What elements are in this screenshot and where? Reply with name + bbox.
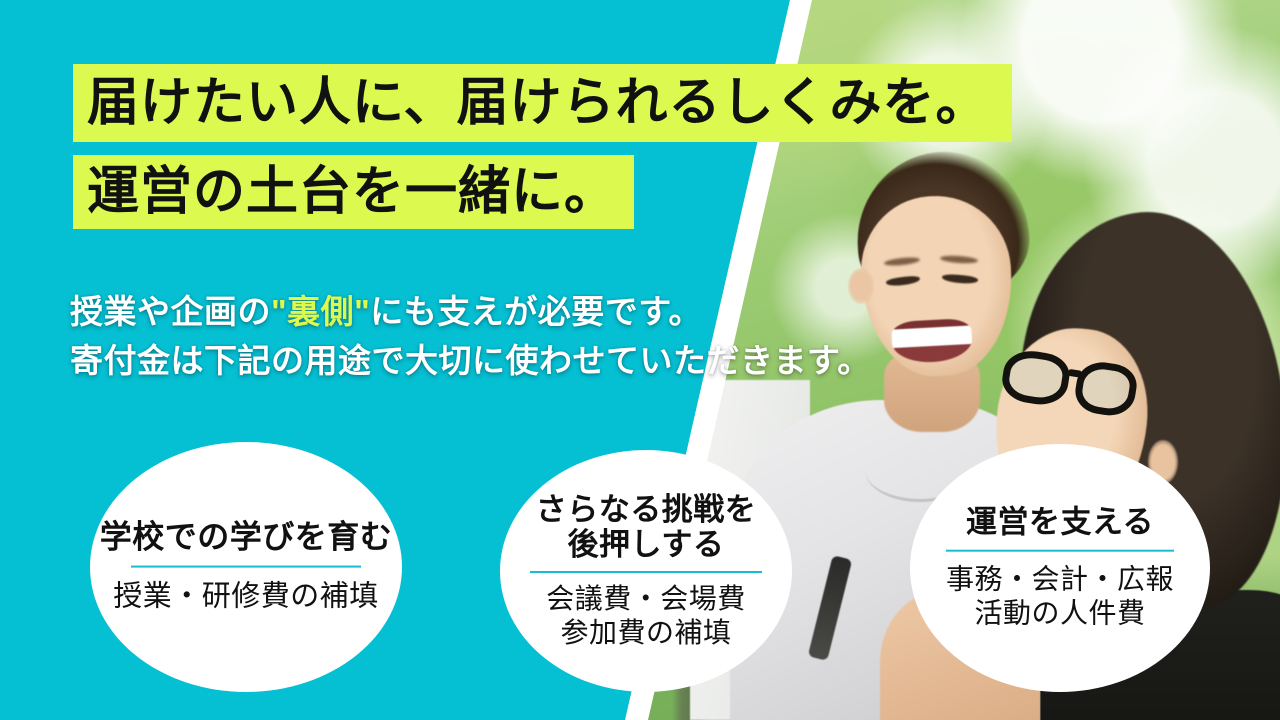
usage-badge-operations: 運営を支える 事務・会計・広報 活動の人件費 (910, 444, 1210, 692)
badge-subtext-1-line-1: 授業・研修費の補填 (56, 580, 436, 615)
subtitle-line-1-after: にも支えが必要です。 (370, 293, 702, 330)
subtitle-highlight-term: "裏側" (271, 293, 370, 330)
headline-bar-1: 届けたい人に、届けられるしくみを。 (73, 64, 1012, 142)
badge-content-2: さらなる挑戦を 後押しする 会議費・会場費 参加費の補填 (496, 492, 796, 650)
badge-title-1: 学校での学びを育む (56, 519, 436, 555)
slide-canvas: 届けたい人に、届けられるしくみを。 運営の土台を一緒に。 授業や企画の"裏側"に… (0, 0, 1280, 720)
subtitle-line-1-before: 授業や企画の (70, 293, 271, 330)
badge-title-3: 運営を支える (910, 505, 1210, 540)
badge-divider-2 (530, 571, 762, 573)
badge-subtext-2-line-1: 会議費・会場費 (496, 582, 796, 616)
badge-subtext-3-line-1: 事務・会計・広報 (910, 563, 1210, 597)
usage-badge-challenge: さらなる挑戦を 後押しする 会議費・会場費 参加費の補填 (500, 450, 792, 692)
headline-line-2: 運営の土台を一緒に。 (73, 166, 617, 218)
usage-badge-school: 学校での学びを育む 授業・研修費の補填 (90, 442, 402, 692)
subtitle-line-2: 寄付金は下記の用途で大切に使わせていただきます。 (70, 337, 990, 386)
badge-content-1: 学校での学びを育む 授業・研修費の補填 (56, 519, 436, 616)
subtitle-block: 授業や企画の"裏側"にも支えが必要です。 寄付金は下記の用途で大切に使わせていた… (70, 288, 990, 386)
badge-title-2-line-1: さらなる挑戦を (496, 492, 796, 527)
badge-content-3: 運営を支える 事務・会計・広報 活動の人件費 (910, 505, 1210, 632)
badge-divider-1 (131, 566, 361, 568)
headline-bar-2: 運営の土台を一緒に。 (73, 155, 634, 229)
headline-line-1: 届けたい人に、届けられるしくみを。 (73, 77, 989, 129)
badge-divider-3 (946, 550, 1174, 552)
badge-title-2-line-2: 後押しする (496, 527, 796, 562)
subtitle-line-1: 授業や企画の"裏側"にも支えが必要です。 (70, 288, 990, 337)
badge-subtext-2-line-2: 参加費の補填 (496, 616, 796, 650)
badge-subtext-3-line-2: 活動の人件費 (910, 597, 1210, 631)
